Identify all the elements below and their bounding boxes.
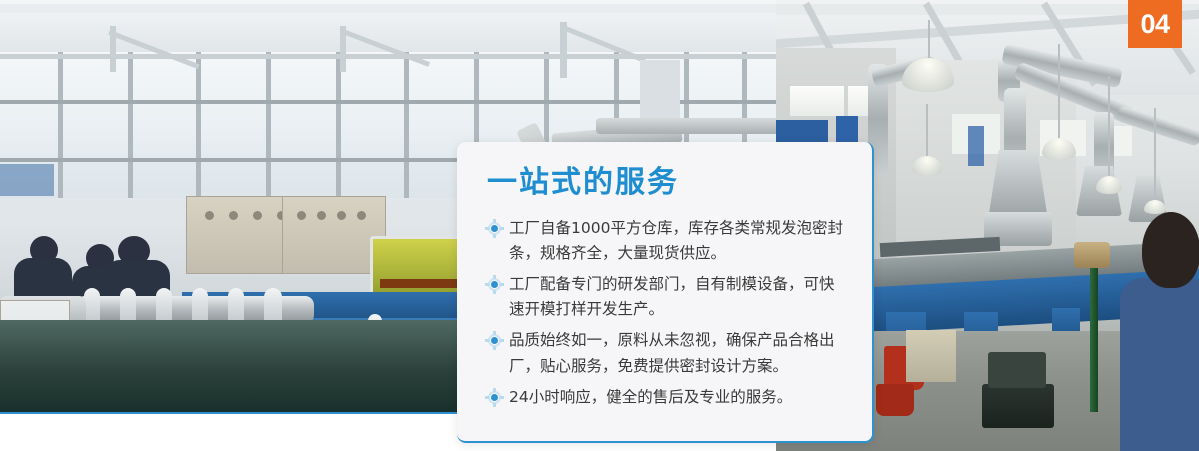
pendant-lamp bbox=[1096, 176, 1122, 194]
list-item: 工厂配备专门的研发部门，自有制模设备，可快速开模打样开发生产。 bbox=[487, 272, 848, 322]
target-dot-icon bbox=[487, 333, 502, 348]
badge-number: 04 bbox=[1140, 11, 1169, 38]
support-pole bbox=[1090, 262, 1098, 412]
worker bbox=[1120, 278, 1199, 451]
list-item: 品质始终如一，原料从未忽视，确保产品合格出厂，贴心服务，免费提供密封设计方案。 bbox=[487, 328, 848, 378]
target-dot-icon bbox=[487, 221, 502, 236]
pendant-lamp bbox=[1144, 200, 1166, 214]
list-item-text: 24小时响应，健全的售后及专业的服务。 bbox=[509, 385, 792, 410]
banner-stage: 04 一站式的服务 工厂自备1000平方仓库，库存各类常规发泡密封条，规格齐全，… bbox=[0, 0, 1199, 451]
list-item-text: 工厂自备1000平方仓库，库存各类常规发泡密封条，规格齐全，大量现货供应。 bbox=[509, 216, 848, 266]
list-item: 工厂自备1000平方仓库，库存各类常规发泡密封条，规格齐全，大量现货供应。 bbox=[487, 216, 848, 266]
target-dot-icon bbox=[487, 390, 502, 405]
card-title: 一站式的服务 bbox=[487, 168, 848, 198]
step-number-badge: 04 bbox=[1128, 0, 1182, 48]
target-dot-icon bbox=[487, 277, 502, 292]
plastic-crate bbox=[982, 384, 1054, 428]
list-item-text: 工厂配备专门的研发部门，自有制模设备，可快速开模打样开发生产。 bbox=[509, 272, 848, 322]
service-info-card: 一站式的服务 工厂自备1000平方仓库，库存各类常规发泡密封条，规格齐全，大量现… bbox=[457, 142, 874, 443]
service-bullet-list: 工厂自备1000平方仓库，库存各类常规发泡密封条，规格齐全，大量现货供应。 工厂… bbox=[487, 216, 848, 410]
list-item: 24小时响应，健全的售后及专业的服务。 bbox=[487, 385, 848, 410]
list-item-text: 品质始终如一，原料从未忽视，确保产品合格出厂，贴心服务，免费提供密封设计方案。 bbox=[509, 328, 848, 378]
